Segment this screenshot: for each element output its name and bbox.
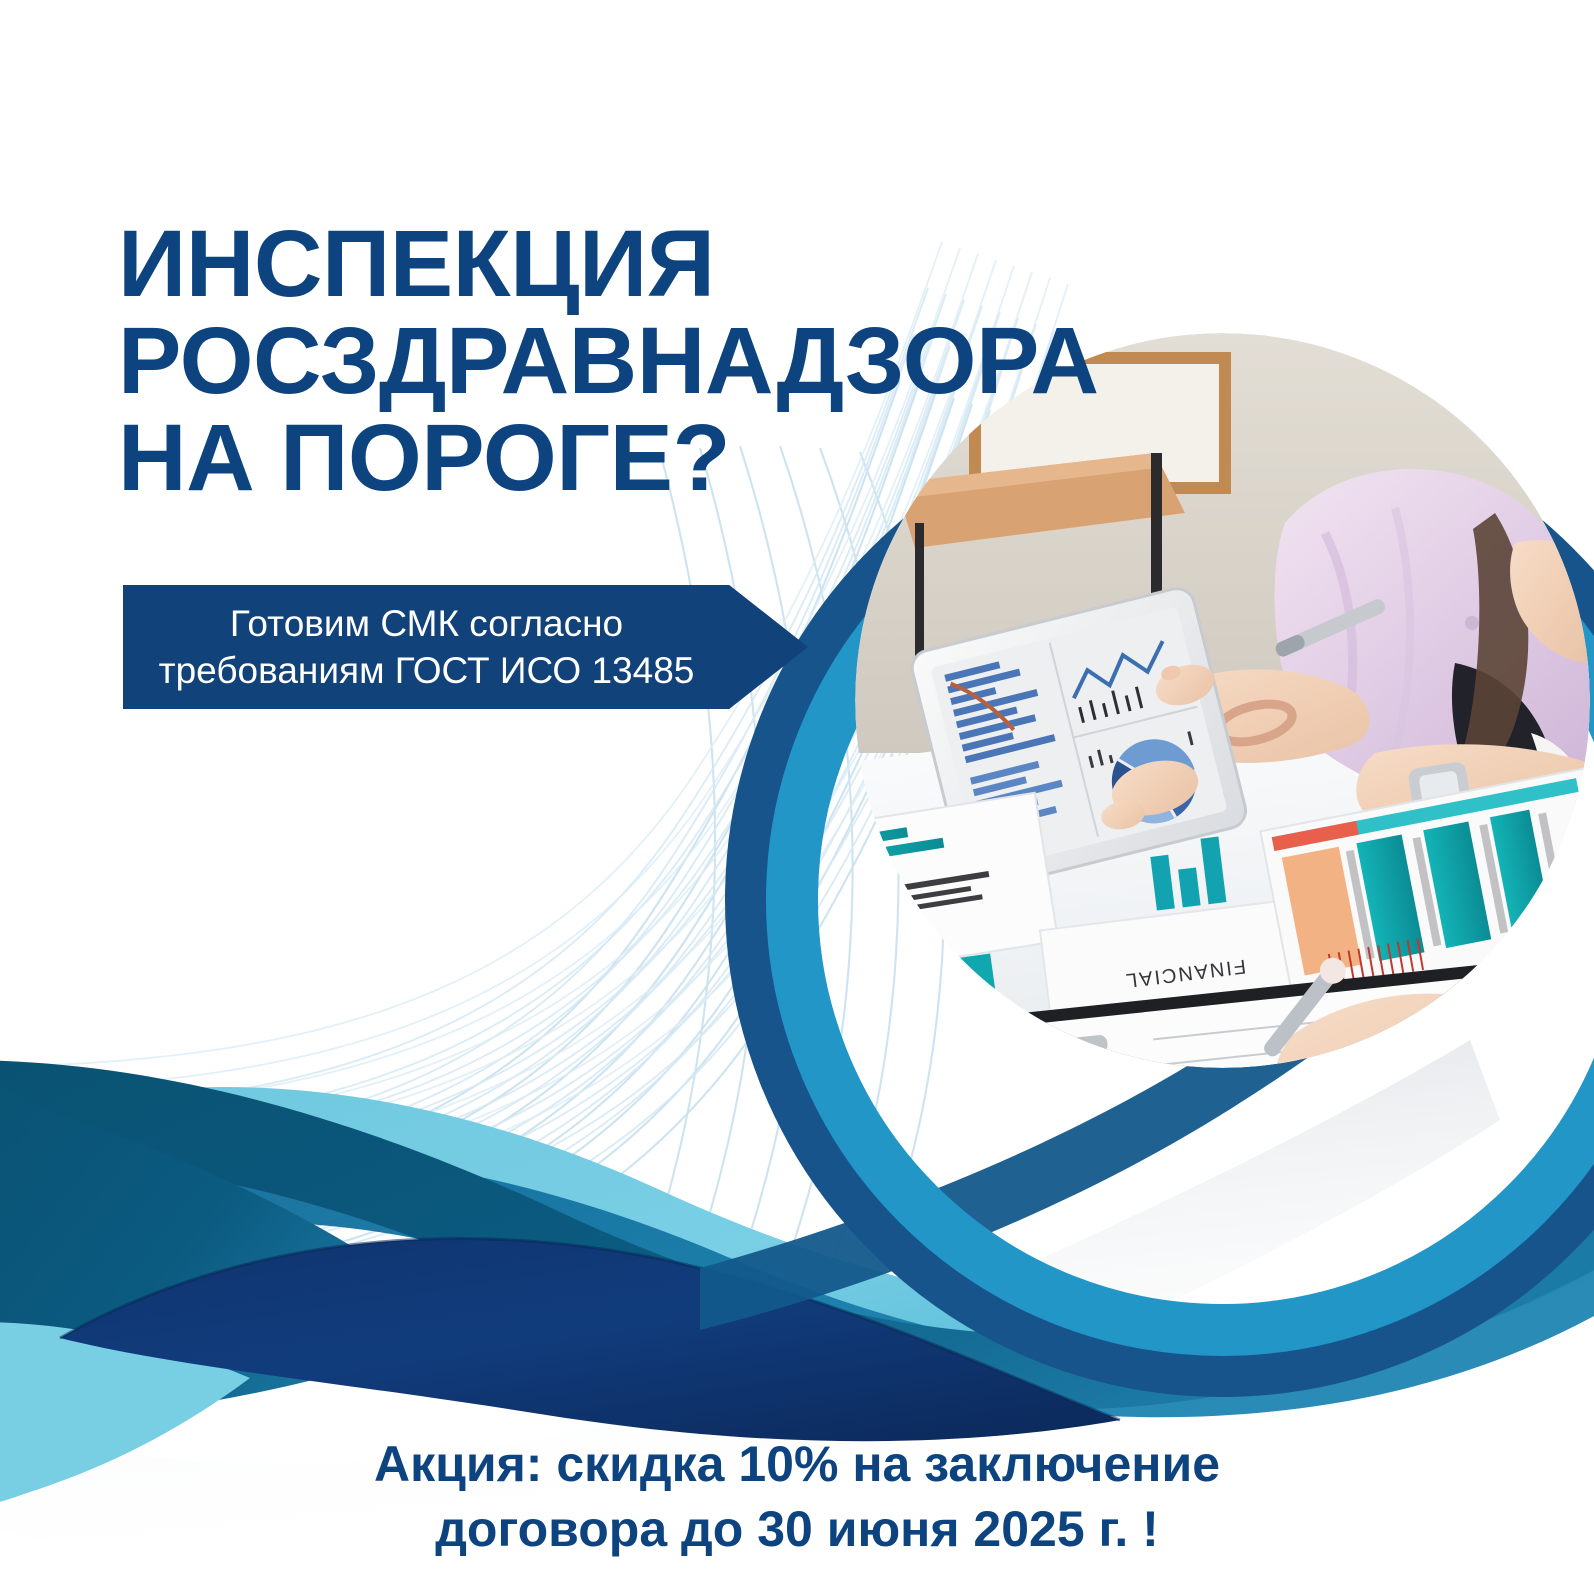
- banner-line-1: Готовим СМК согласно: [230, 600, 623, 647]
- headline-line-3: НА ПОРОГЕ?: [118, 410, 1078, 507]
- promo-line-1: Акция: скидка 10% на заключение: [0, 1432, 1594, 1497]
- promotional-poster: BUDGET FINANCIAL: [0, 0, 1594, 1594]
- svg-text:Calculator: Calculator: [1443, 1008, 1539, 1045]
- banner-line-2: требованиям ГОСТ ИСО 13485: [159, 647, 695, 694]
- headline-line-2: РОСЗДРАВНАДЗОРА: [118, 313, 1078, 410]
- page-title: ИНСПЕКЦИЯ РОСЗДРАВНАДЗОРА НА ПОРОГЕ?: [118, 216, 1078, 507]
- svg-text:BUDGET: BUDGET: [901, 970, 979, 1000]
- subtitle-arrow-banner: Готовим СМК согласно требованиям ГОСТ ИС…: [123, 585, 808, 709]
- promo-line-2: договора до 30 июня 2025 г. !: [0, 1497, 1594, 1562]
- headline-line-1: ИНСПЕКЦИЯ: [118, 216, 1078, 313]
- promo-offer-text: Акция: скидка 10% на заключение договора…: [0, 1432, 1594, 1562]
